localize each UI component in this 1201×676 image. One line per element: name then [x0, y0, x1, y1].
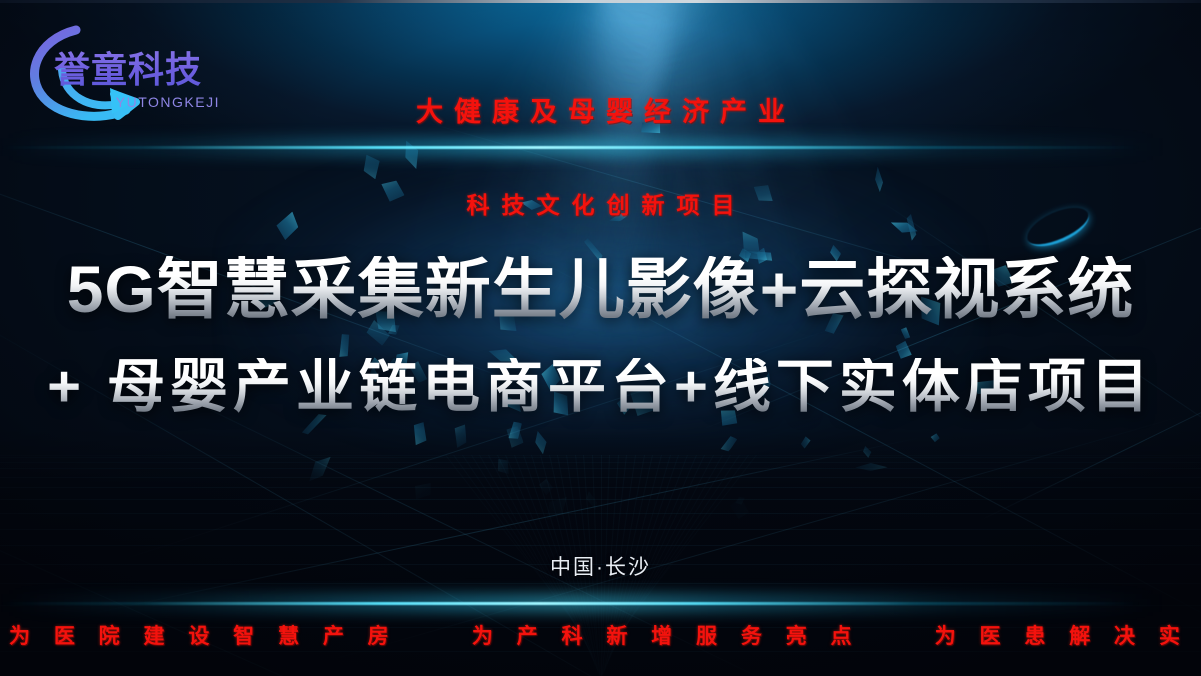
- logo-text-cn: 誉童科技: [54, 41, 224, 93]
- location-label: 中国·长沙: [0, 551, 1201, 581]
- top-edge-strip: [0, 0, 1201, 3]
- main-title: 5G智慧采集新生儿影像+云探视系统 + 母婴产业链电商平台+线下实体店项目: [0, 256, 1201, 416]
- title-line-1: 5G智慧采集新生儿影像+云探视系统: [0, 256, 1201, 322]
- kicker-heading: 大健康及母婴经济产业: [0, 90, 1201, 129]
- footer-slogan: 为 医 院 建 设 智 慧 产 房 为 产 科 新 增 服 务 亮 点 为 医 …: [0, 620, 1201, 650]
- title-line-2: + 母婴产业链电商平台+线下实体店项目: [0, 358, 1201, 416]
- sub-kicker-heading: 科技文化创新项目: [0, 186, 1201, 220]
- presentation-slide: 誉童科技 YUTONGKEJI 大健康及母婴经济产业 科技文化创新项目 5G智慧…: [0, 0, 1201, 676]
